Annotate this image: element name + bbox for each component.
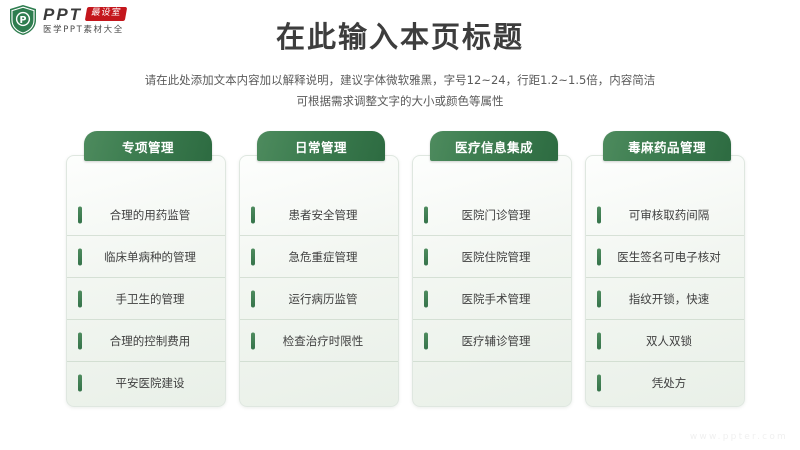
list-item-label: 患者安全管理 [240,207,398,223]
list-item[interactable]: 医疗辅诊管理 [413,319,571,361]
list-item[interactable]: 检查治疗时限性 [240,319,398,361]
list-item-label: 运行病历监管 [240,291,398,307]
card-3-title: 医疗信息集成 [455,137,533,156]
list-item[interactable]: 可审核取药间隔 [586,194,744,235]
list-item[interactable]: 平安医院建设 [67,361,225,403]
page-title: 在此输入本页标题 [0,14,800,56]
card-4-header[interactable]: 毒麻药品管理 [603,131,731,161]
bullet-bar-icon [424,332,428,349]
subtitle-line-1: 请在此处添加文本内容加以解释说明，建议字体微软雅黑，字号12~24，行距1.2~… [0,70,800,91]
list-item[interactable]: 医院住院管理 [413,235,571,277]
bullet-bar-icon [597,248,601,265]
bullet-bar-icon [78,374,82,391]
list-item-label: 医生签名可电子核对 [586,249,744,265]
list-item-label: 双人双锁 [586,333,744,349]
list-item-label: 手卫生的管理 [67,291,225,307]
card-1[interactable]: 专项管理 合理的用药监管 临床单病种的管理 手卫生的管理 合理的控制费用 [66,131,221,407]
list-item[interactable]: 临床单病种的管理 [67,235,225,277]
bullet-bar-icon [597,290,601,307]
card-4-items: 可审核取药间隔 医生签名可电子核对 指纹开锁，快速 双人双锁 凭处方 [586,194,744,403]
list-item-label: 平安医院建设 [67,375,225,391]
list-item-empty [413,361,571,403]
bullet-bar-icon [251,332,255,349]
card-3-header[interactable]: 医疗信息集成 [430,131,558,161]
card-1-body: 合理的用药监管 临床单病种的管理 手卫生的管理 合理的控制费用 平安医院建设 [66,155,226,407]
list-item-label: 凭处方 [586,375,744,391]
card-2-header[interactable]: 日常管理 [257,131,385,161]
list-item[interactable]: 运行病历监管 [240,277,398,319]
list-item-label: 可审核取药间隔 [586,207,744,223]
card-1-header[interactable]: 专项管理 [84,131,212,161]
bullet-bar-icon [251,290,255,307]
card-2[interactable]: 日常管理 患者安全管理 急危重症管理 运行病历监管 检查治疗时限性 [239,131,394,407]
list-item[interactable]: 医生签名可电子核对 [586,235,744,277]
bullet-bar-icon [424,290,428,307]
list-item-label: 临床单病种的管理 [67,249,225,265]
list-item[interactable]: 手卫生的管理 [67,277,225,319]
title-block: 在此输入本页标题 请在此处添加文本内容加以解释说明，建议字体微软雅黑，字号12~… [0,14,800,113]
list-item-label: 合理的控制费用 [67,333,225,349]
bullet-bar-icon [424,206,428,223]
list-item-label: 医院手术管理 [413,291,571,307]
bullet-bar-icon [251,248,255,265]
page-subtitle: 请在此处添加文本内容加以解释说明，建议字体微软雅黑，字号12~24，行距1.2~… [0,70,800,113]
bullet-bar-icon [597,332,601,349]
list-item[interactable]: 指纹开锁，快速 [586,277,744,319]
card-4-title: 毒麻药品管理 [628,137,706,156]
bullet-bar-icon [78,248,82,265]
card-3[interactable]: 医疗信息集成 医院门诊管理 医院住院管理 医院手术管理 医疗辅诊管理 [412,131,567,407]
list-item[interactable]: 双人双锁 [586,319,744,361]
card-3-items: 医院门诊管理 医院住院管理 医院手术管理 医疗辅诊管理 [413,194,571,403]
list-item-label: 医院门诊管理 [413,207,571,223]
bullet-bar-icon [597,206,601,223]
card-2-items: 患者安全管理 急危重症管理 运行病历监管 检查治疗时限性 [240,194,398,403]
list-item[interactable]: 凭处方 [586,361,744,403]
list-item-label: 医疗辅诊管理 [413,333,571,349]
list-item-label: 医院住院管理 [413,249,571,265]
bullet-bar-icon [78,332,82,349]
bullet-bar-icon [597,374,601,391]
list-item[interactable]: 医院手术管理 [413,277,571,319]
list-item[interactable]: 急危重症管理 [240,235,398,277]
list-item[interactable]: 医院门诊管理 [413,194,571,235]
list-item-empty [240,361,398,403]
bullet-bar-icon [78,290,82,307]
list-item[interactable]: 合理的用药监管 [67,194,225,235]
card-2-body: 患者安全管理 急危重症管理 运行病历监管 检查治疗时限性 [239,155,399,407]
card-1-title: 专项管理 [122,137,174,156]
card-4[interactable]: 毒麻药品管理 可审核取药间隔 医生签名可电子核对 指纹开锁，快速 双人双 [585,131,740,407]
list-item-label: 指纹开锁，快速 [586,291,744,307]
card-3-body: 医院门诊管理 医院住院管理 医院手术管理 医疗辅诊管理 [412,155,572,407]
list-item-label: 急危重症管理 [240,249,398,265]
subtitle-line-2: 可根据需求调整文字的大小或颜色等属性 [0,91,800,112]
card-1-items: 合理的用药监管 临床单病种的管理 手卫生的管理 合理的控制费用 平安医院建设 [67,194,225,403]
site-watermark: www.ppter.com [690,432,788,442]
list-item-label: 检查治疗时限性 [240,333,398,349]
bullet-bar-icon [424,248,428,265]
card-grid: 专项管理 合理的用药监管 临床单病种的管理 手卫生的管理 合理的控制费用 [66,131,740,407]
list-item-label: 合理的用药监管 [67,207,225,223]
bullet-bar-icon [251,206,255,223]
list-item[interactable]: 患者安全管理 [240,194,398,235]
card-4-body: 可审核取药间隔 医生签名可电子核对 指纹开锁，快速 双人双锁 凭处方 [585,155,745,407]
list-item[interactable]: 合理的控制费用 [67,319,225,361]
card-2-title: 日常管理 [295,137,347,156]
bullet-bar-icon [78,206,82,223]
